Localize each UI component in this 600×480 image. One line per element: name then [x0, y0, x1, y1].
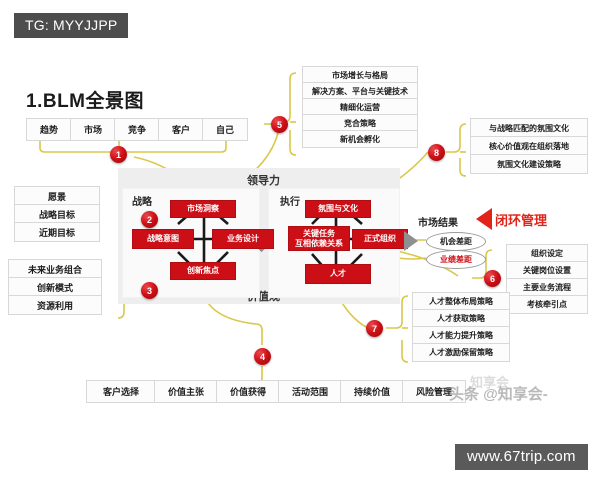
core-box-strategy-intent[interactable]: 战略意图: [132, 229, 194, 249]
red-arrow-left-icon: [476, 208, 492, 230]
organization-group-item-3[interactable]: 考核牵引点: [506, 295, 588, 314]
badge-3[interactable]: 3: [141, 282, 158, 299]
core-box-talent-label: 人才: [330, 269, 346, 278]
vision-group-item-2[interactable]: 近期目标: [14, 222, 100, 242]
core-box-business-design[interactable]: 业务设计: [212, 229, 274, 249]
business-group-item-0[interactable]: 未来业务组合: [8, 259, 102, 279]
url-watermark: www.67trip.com: [455, 444, 588, 470]
culture-group-item-1[interactable]: 核心价值观在组织落地: [470, 136, 588, 156]
market-group-item-4[interactable]: 新机会孵化: [302, 130, 418, 148]
top-row-item-1[interactable]: 市场: [70, 118, 116, 141]
badge-6[interactable]: 6: [484, 270, 501, 287]
performance-gap-oval[interactable]: 业绩差距: [426, 250, 486, 269]
core-box-strategy-intent-label: 战略意图: [147, 234, 179, 243]
badge-1[interactable]: 1: [110, 146, 127, 163]
tg-watermark: TG: MYYJJPP: [14, 13, 128, 38]
toutiao-watermark: 头条 @知享会-: [449, 383, 548, 404]
core-box-market-insight[interactable]: 市场洞察: [170, 200, 236, 218]
core-box-market-insight-label: 市场洞察: [187, 204, 219, 213]
core-box-formal-organization-label: 正式组织: [364, 234, 396, 243]
top-row-item-0[interactable]: 趋势: [26, 118, 72, 141]
bottom-row-item-1[interactable]: 价值主张: [154, 380, 218, 403]
gray-arrow-icon: [404, 231, 418, 251]
badge-8[interactable]: 8: [428, 144, 445, 161]
core-box-atmosphere-culture-label: 氛围与文化: [318, 204, 358, 213]
badge-7[interactable]: 7: [366, 320, 383, 337]
market-result-label: 市场结果: [418, 214, 458, 229]
vision-group-item-1[interactable]: 战略目标: [14, 204, 100, 224]
bottom-row-item-2[interactable]: 价值获得: [216, 380, 280, 403]
core-box-innovation-focus-label: 创新焦点: [187, 266, 219, 275]
badge-4[interactable]: 4: [254, 348, 271, 365]
page-title: 1.BLM全景图: [26, 86, 144, 113]
vision-group-item-0[interactable]: 愿景: [14, 186, 100, 206]
business-group-item-2[interactable]: 资源利用: [8, 295, 102, 315]
bottom-row-item-4[interactable]: 持续价值: [340, 380, 404, 403]
diagram-canvas: 领导力 价值观 战略 执行 市场洞察 战略意图 业务设计: [0, 0, 600, 480]
core-box-business-design-label: 业务设计: [227, 234, 259, 243]
opportunity-gap-oval[interactable]: 机会差距: [426, 232, 486, 251]
core-box-formal-organization[interactable]: 正式组织: [352, 229, 408, 249]
core-box-innovation-focus[interactable]: 创新焦点: [170, 262, 236, 280]
core-box-key-tasks-label-1: 关键任务: [303, 229, 335, 238]
top-row-item-3[interactable]: 客户: [158, 118, 204, 141]
talent-group-item-3[interactable]: 人才激励保留策略: [412, 343, 510, 362]
badge-5[interactable]: 5: [271, 116, 288, 133]
bottom-row-item-0[interactable]: 客户选择: [86, 380, 156, 403]
core-box-talent[interactable]: 人才: [305, 264, 371, 284]
culture-group-item-0[interactable]: 与战略匹配的氛围文化: [470, 118, 588, 138]
badge-2[interactable]: 2: [141, 211, 158, 228]
top-row-item-2[interactable]: 竞争: [114, 118, 160, 141]
core-box-key-tasks-label-2: 互相依赖关系: [295, 239, 343, 248]
core-box-key-tasks[interactable]: 关键任务 互相依赖关系: [288, 226, 350, 251]
culture-group-item-2[interactable]: 氛围文化建设策略: [470, 154, 588, 174]
top-row-item-4[interactable]: 自己: [202, 118, 248, 141]
closed-loop-label: 闭环管理: [495, 210, 547, 229]
bottom-row-item-3[interactable]: 活动范围: [278, 380, 342, 403]
core-box-atmosphere-culture[interactable]: 氛围与文化: [305, 200, 371, 218]
business-group-item-1[interactable]: 创新模式: [8, 277, 102, 297]
